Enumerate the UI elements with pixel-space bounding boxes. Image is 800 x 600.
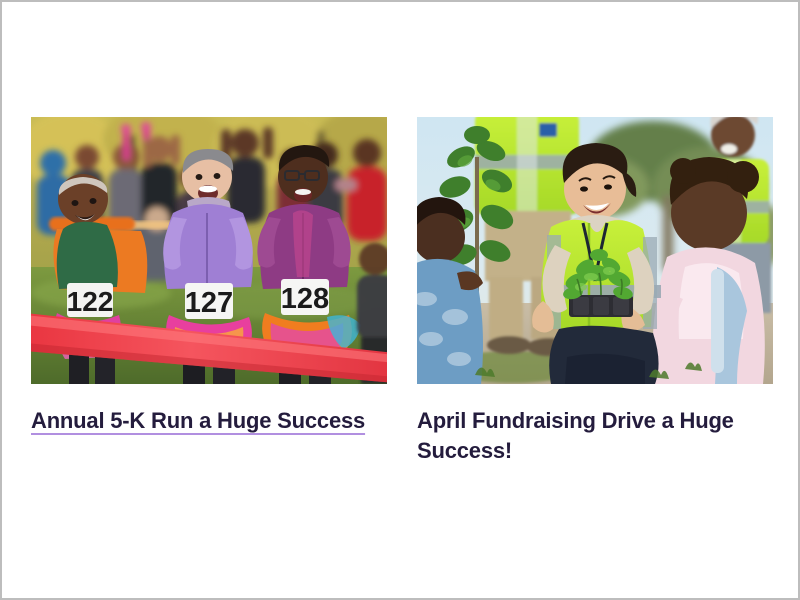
card-title-5k-run[interactable]: Annual 5-K Run a Huge Success <box>31 406 387 436</box>
news-card-fundraising-drive[interactable]: April Fundraising Drive a Huge Success! <box>417 117 773 466</box>
page-frame: 122 <box>0 0 800 600</box>
volunteer-with-seedlings-photo[interactable] <box>417 117 773 384</box>
svg-text:122: 122 <box>67 286 114 317</box>
svg-text:128: 128 <box>281 283 329 315</box>
card-title-fundraising-drive[interactable]: April Fundraising Drive a Huge Success! <box>417 406 773 466</box>
svg-text:127: 127 <box>185 287 233 319</box>
card-grid: 122 <box>31 117 774 466</box>
runners-crossing-finish-line-photo[interactable]: 122 <box>31 117 387 384</box>
news-card-5k-run[interactable]: 122 <box>31 117 387 436</box>
